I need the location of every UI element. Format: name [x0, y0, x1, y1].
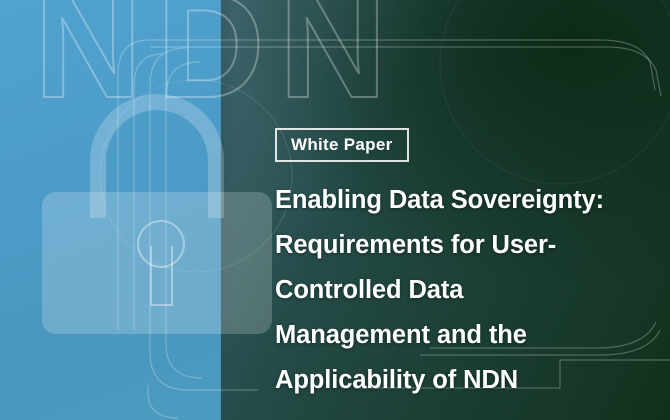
title-line-5: Applicability of NDN: [275, 358, 667, 403]
white-paper-cover: NDN White Paper: [0, 0, 670, 420]
title-line-1: Enabling Data Sovereignty:: [275, 178, 667, 223]
title-line-3: Controlled Data: [275, 268, 667, 313]
page-title: Enabling Data Sovereignty: Requirements …: [275, 178, 667, 403]
white-paper-badge: White Paper: [275, 128, 409, 162]
title-line-4: Management and the: [275, 313, 667, 358]
title-line-2: Requirements for User-: [275, 223, 667, 268]
